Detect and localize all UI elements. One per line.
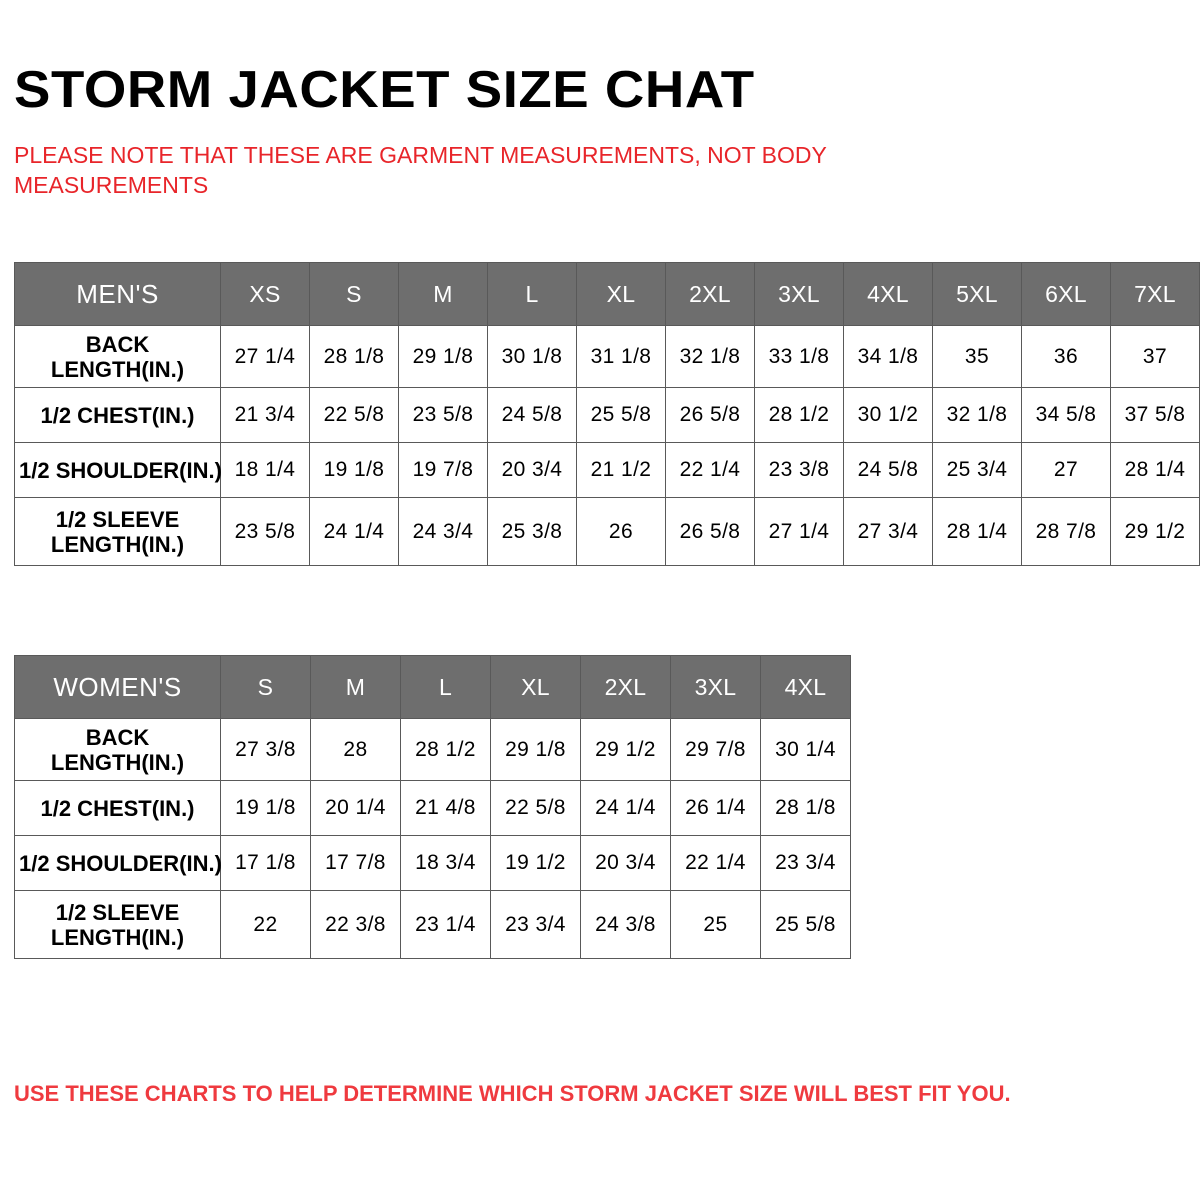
measurement-cell: 34 5/8: [1022, 388, 1111, 443]
measurement-cell: 22: [221, 891, 311, 959]
measurement-cell: 23 5/8: [221, 498, 310, 566]
measurement-cell: 22 3/8: [311, 891, 401, 959]
measurement-cell: 20 3/4: [581, 836, 671, 891]
table-row: 1/2 CHEST(IN.)19 1/820 1/421 4/822 5/824…: [15, 781, 851, 836]
measurement-cell: 28: [311, 719, 401, 781]
measurement-cell: 24 1/4: [581, 781, 671, 836]
size-column-header: 2XL: [666, 263, 755, 326]
measurement-cell: 32 1/8: [933, 388, 1022, 443]
measurement-cell: 30 1/4: [761, 719, 851, 781]
measurement-cell: 23 1/4: [401, 891, 491, 959]
size-column-header: XL: [577, 263, 666, 326]
measurement-cell: 29 1/8: [491, 719, 581, 781]
measurement-cell: 21 4/8: [401, 781, 491, 836]
measurement-cell: 28 1/2: [755, 388, 844, 443]
table-row: 1/2 CHEST(IN.)21 3/422 5/823 5/824 5/825…: [15, 388, 1200, 443]
size-column-header: 4XL: [761, 656, 851, 719]
measurement-cell: 28 1/8: [310, 326, 399, 388]
measurement-cell: 30 1/8: [488, 326, 577, 388]
table-title-mens: MEN'S: [15, 263, 221, 326]
size-guidance-note: USE THESE CHARTS TO HELP DETERMINE WHICH…: [14, 1080, 1174, 1108]
size-column-header: 3XL: [755, 263, 844, 326]
measurement-cell: 18 3/4: [401, 836, 491, 891]
size-column-header: XS: [221, 263, 310, 326]
measurement-cell: 37: [1111, 326, 1200, 388]
table-row: BACK LENGTH(IN.)27 1/428 1/829 1/830 1/8…: [15, 326, 1200, 388]
size-column-header: L: [401, 656, 491, 719]
measurement-cell: 34 1/8: [844, 326, 933, 388]
table-row: 1/2 SLEEVE LENGTH(IN.)23 5/824 1/424 3/4…: [15, 498, 1200, 566]
table-row: 1/2 SLEEVE LENGTH(IN.)2222 3/823 1/423 3…: [15, 891, 851, 959]
measurement-cell: 23 3/8: [755, 443, 844, 498]
size-column-header: XL: [491, 656, 581, 719]
measurement-cell: 27 3/8: [221, 719, 311, 781]
measurement-row-label: 1/2 SHOULDER(IN.): [15, 836, 221, 891]
measurement-cell: 26: [577, 498, 666, 566]
measurement-cell: 19 7/8: [399, 443, 488, 498]
measurement-cell: 27 1/4: [755, 498, 844, 566]
measurement-cell: 17 1/8: [221, 836, 311, 891]
measurement-cell: 22 5/8: [310, 388, 399, 443]
measurement-cell: 30 1/2: [844, 388, 933, 443]
measurement-row-label: BACK LENGTH(IN.): [15, 719, 221, 781]
measurement-cell: 26 5/8: [666, 498, 755, 566]
measurement-cell: 29 1/8: [399, 326, 488, 388]
womens-table-body: BACK LENGTH(IN.)27 3/82828 1/229 1/829 1…: [15, 719, 851, 959]
measurement-cell: 18 1/4: [221, 443, 310, 498]
page-title: STORM JACKET SIZE CHAT: [14, 59, 755, 121]
measurement-cell: 28 1/2: [401, 719, 491, 781]
size-column-header: S: [221, 656, 311, 719]
measurement-cell: 33 1/8: [755, 326, 844, 388]
table-row: 1/2 SHOULDER(IN.)18 1/419 1/819 7/820 3/…: [15, 443, 1200, 498]
mens-table-header: MEN'SXSSMLXL2XL3XL4XL5XL6XL7XL: [15, 263, 1200, 326]
measurement-row-label: 1/2 CHEST(IN.): [15, 781, 221, 836]
measurement-cell: 26 1/4: [671, 781, 761, 836]
mens-table-body: BACK LENGTH(IN.)27 1/428 1/829 1/830 1/8…: [15, 326, 1200, 566]
measurement-row-label: 1/2 SLEEVE LENGTH(IN.): [15, 891, 221, 959]
measurement-cell: 23 5/8: [399, 388, 488, 443]
womens-table-header: WOMEN'SSMLXL2XL3XL4XL: [15, 656, 851, 719]
measurement-cell: 36: [1022, 326, 1111, 388]
measurement-cell: 25 5/8: [761, 891, 851, 959]
size-column-header: M: [311, 656, 401, 719]
measurement-cell: 26 5/8: [666, 388, 755, 443]
size-column-header: 7XL: [1111, 263, 1200, 326]
measurement-cell: 25 5/8: [577, 388, 666, 443]
measurement-cell: 28 1/4: [933, 498, 1022, 566]
size-column-header: 6XL: [1022, 263, 1111, 326]
size-column-header: S: [310, 263, 399, 326]
table-title-womens: WOMEN'S: [15, 656, 221, 719]
size-column-header: 2XL: [581, 656, 671, 719]
measurement-cell: 20 1/4: [311, 781, 401, 836]
table-header-row: MEN'SXSSMLXL2XL3XL4XL5XL6XL7XL: [15, 263, 1200, 326]
measurement-cell: 19 1/8: [221, 781, 311, 836]
measurement-cell: 22 5/8: [491, 781, 581, 836]
measurement-cell: 22 1/4: [671, 836, 761, 891]
measurement-cell: 25: [671, 891, 761, 959]
measurement-cell: 28 7/8: [1022, 498, 1111, 566]
measurement-row-label: 1/2 SLEEVE LENGTH(IN.): [15, 498, 221, 566]
measurement-cell: 24 3/4: [399, 498, 488, 566]
measurement-cell: 21 3/4: [221, 388, 310, 443]
table-row: BACK LENGTH(IN.)27 3/82828 1/229 1/829 1…: [15, 719, 851, 781]
table-header-row: WOMEN'SSMLXL2XL3XL4XL: [15, 656, 851, 719]
measurement-cell: 29 7/8: [671, 719, 761, 781]
size-chart-page: STORM JACKET SIZE CHAT PLEASE NOTE THAT …: [0, 0, 1200, 1200]
measurement-cell: 23 3/4: [491, 891, 581, 959]
measurement-cell: 27: [1022, 443, 1111, 498]
measurement-cell: 24 1/4: [310, 498, 399, 566]
measurement-row-label: 1/2 SHOULDER(IN.): [15, 443, 221, 498]
measurement-cell: 37 5/8: [1111, 388, 1200, 443]
measurement-cell: 24 3/8: [581, 891, 671, 959]
measurement-cell: 25 3/8: [488, 498, 577, 566]
measurement-cell: 32 1/8: [666, 326, 755, 388]
measurement-cell: 29 1/2: [581, 719, 671, 781]
measurement-cell: 24 5/8: [488, 388, 577, 443]
measurement-cell: 22 1/4: [666, 443, 755, 498]
measurement-cell: 19 1/2: [491, 836, 581, 891]
table-row: 1/2 SHOULDER(IN.)17 1/817 7/818 3/419 1/…: [15, 836, 851, 891]
measurement-cell: 23 3/4: [761, 836, 851, 891]
measurement-row-label: 1/2 CHEST(IN.): [15, 388, 221, 443]
measurement-cell: 21 1/2: [577, 443, 666, 498]
measurement-cell: 31 1/8: [577, 326, 666, 388]
measurement-cell: 24 5/8: [844, 443, 933, 498]
mens-size-table: MEN'SXSSMLXL2XL3XL4XL5XL6XL7XL BACK LENG…: [14, 262, 1200, 566]
size-column-header: M: [399, 263, 488, 326]
size-column-header: 3XL: [671, 656, 761, 719]
measurement-cell: 35: [933, 326, 1022, 388]
size-column-header: 4XL: [844, 263, 933, 326]
garment-measurement-note: PLEASE NOTE THAT THESE ARE GARMENT MEASU…: [14, 140, 974, 200]
measurement-cell: 19 1/8: [310, 443, 399, 498]
measurement-cell: 17 7/8: [311, 836, 401, 891]
measurement-cell: 28 1/8: [761, 781, 851, 836]
measurement-cell: 20 3/4: [488, 443, 577, 498]
measurement-cell: 29 1/2: [1111, 498, 1200, 566]
measurement-row-label: BACK LENGTH(IN.): [15, 326, 221, 388]
measurement-cell: 25 3/4: [933, 443, 1022, 498]
measurement-cell: 28 1/4: [1111, 443, 1200, 498]
measurement-cell: 27 1/4: [221, 326, 310, 388]
size-column-header: 5XL: [933, 263, 1022, 326]
size-column-header: L: [488, 263, 577, 326]
measurement-cell: 27 3/4: [844, 498, 933, 566]
womens-size-table: WOMEN'SSMLXL2XL3XL4XL BACK LENGTH(IN.)27…: [14, 655, 851, 959]
